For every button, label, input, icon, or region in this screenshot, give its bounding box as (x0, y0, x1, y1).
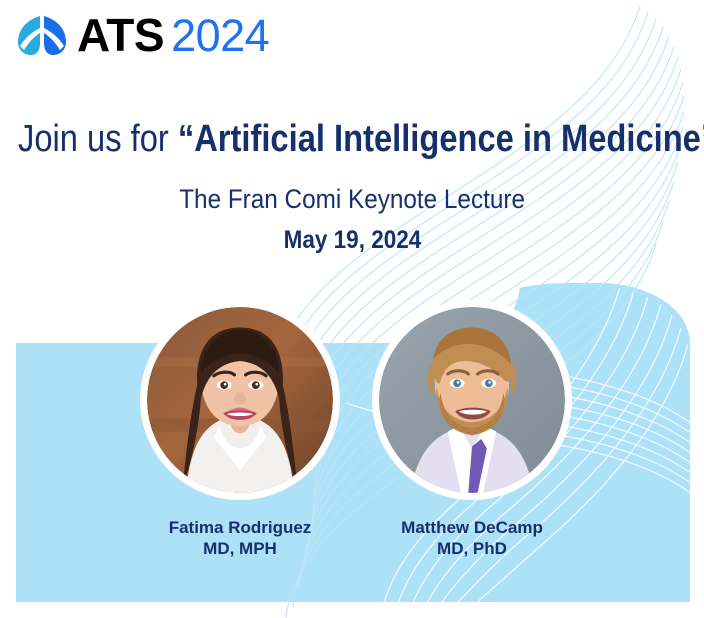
ats-logo-year: 2024 (171, 13, 269, 58)
ats-logo: ATS 2024 (16, 12, 269, 58)
portrait-ring (372, 300, 572, 500)
ats-lungs-icon (16, 14, 68, 56)
speaker-portrait-matthew-decamp (372, 300, 572, 500)
lecture-subtitle-text: The Fran Comi Keynote Lecture (179, 184, 525, 215)
portrait-photo (379, 307, 565, 493)
speaker-name: Matthew DeCamp (342, 518, 602, 539)
speaker-portrait-fatima-rodriguez (140, 300, 340, 500)
portrait-illustration-fatima-rodriguez (147, 307, 333, 493)
portrait-illustration-matthew-decamp (379, 307, 565, 493)
speaker-caption-matthew-decamp: Matthew DeCamp MD, PhD (342, 518, 602, 559)
ats-logo-wordmark: ATS (77, 12, 164, 58)
event-date: May 19, 2024 (0, 226, 704, 255)
speaker-degrees: MD, PhD (342, 539, 602, 560)
headline: Join us for “Artificial Intelligence in … (18, 118, 596, 161)
speaker-name: Fatima Rodriguez (110, 518, 370, 539)
portrait-photo (147, 307, 333, 493)
portrait-ring (140, 300, 340, 500)
headline-lead: Join us for (18, 118, 178, 160)
lecture-subtitle: The Fran Comi Keynote Lecture (0, 184, 704, 215)
headline-lecture-title: “Artificial Intelligence in Medicine” (178, 118, 704, 160)
speaker-degrees: MD, MPH (110, 539, 370, 560)
ats-keynote-promo-banner: ATS 2024 Join us for “Artificial Intelli… (0, 0, 704, 618)
event-date-text: May 19, 2024 (283, 226, 421, 255)
speaker-caption-fatima-rodriguez: Fatima Rodriguez MD, MPH (110, 518, 370, 559)
